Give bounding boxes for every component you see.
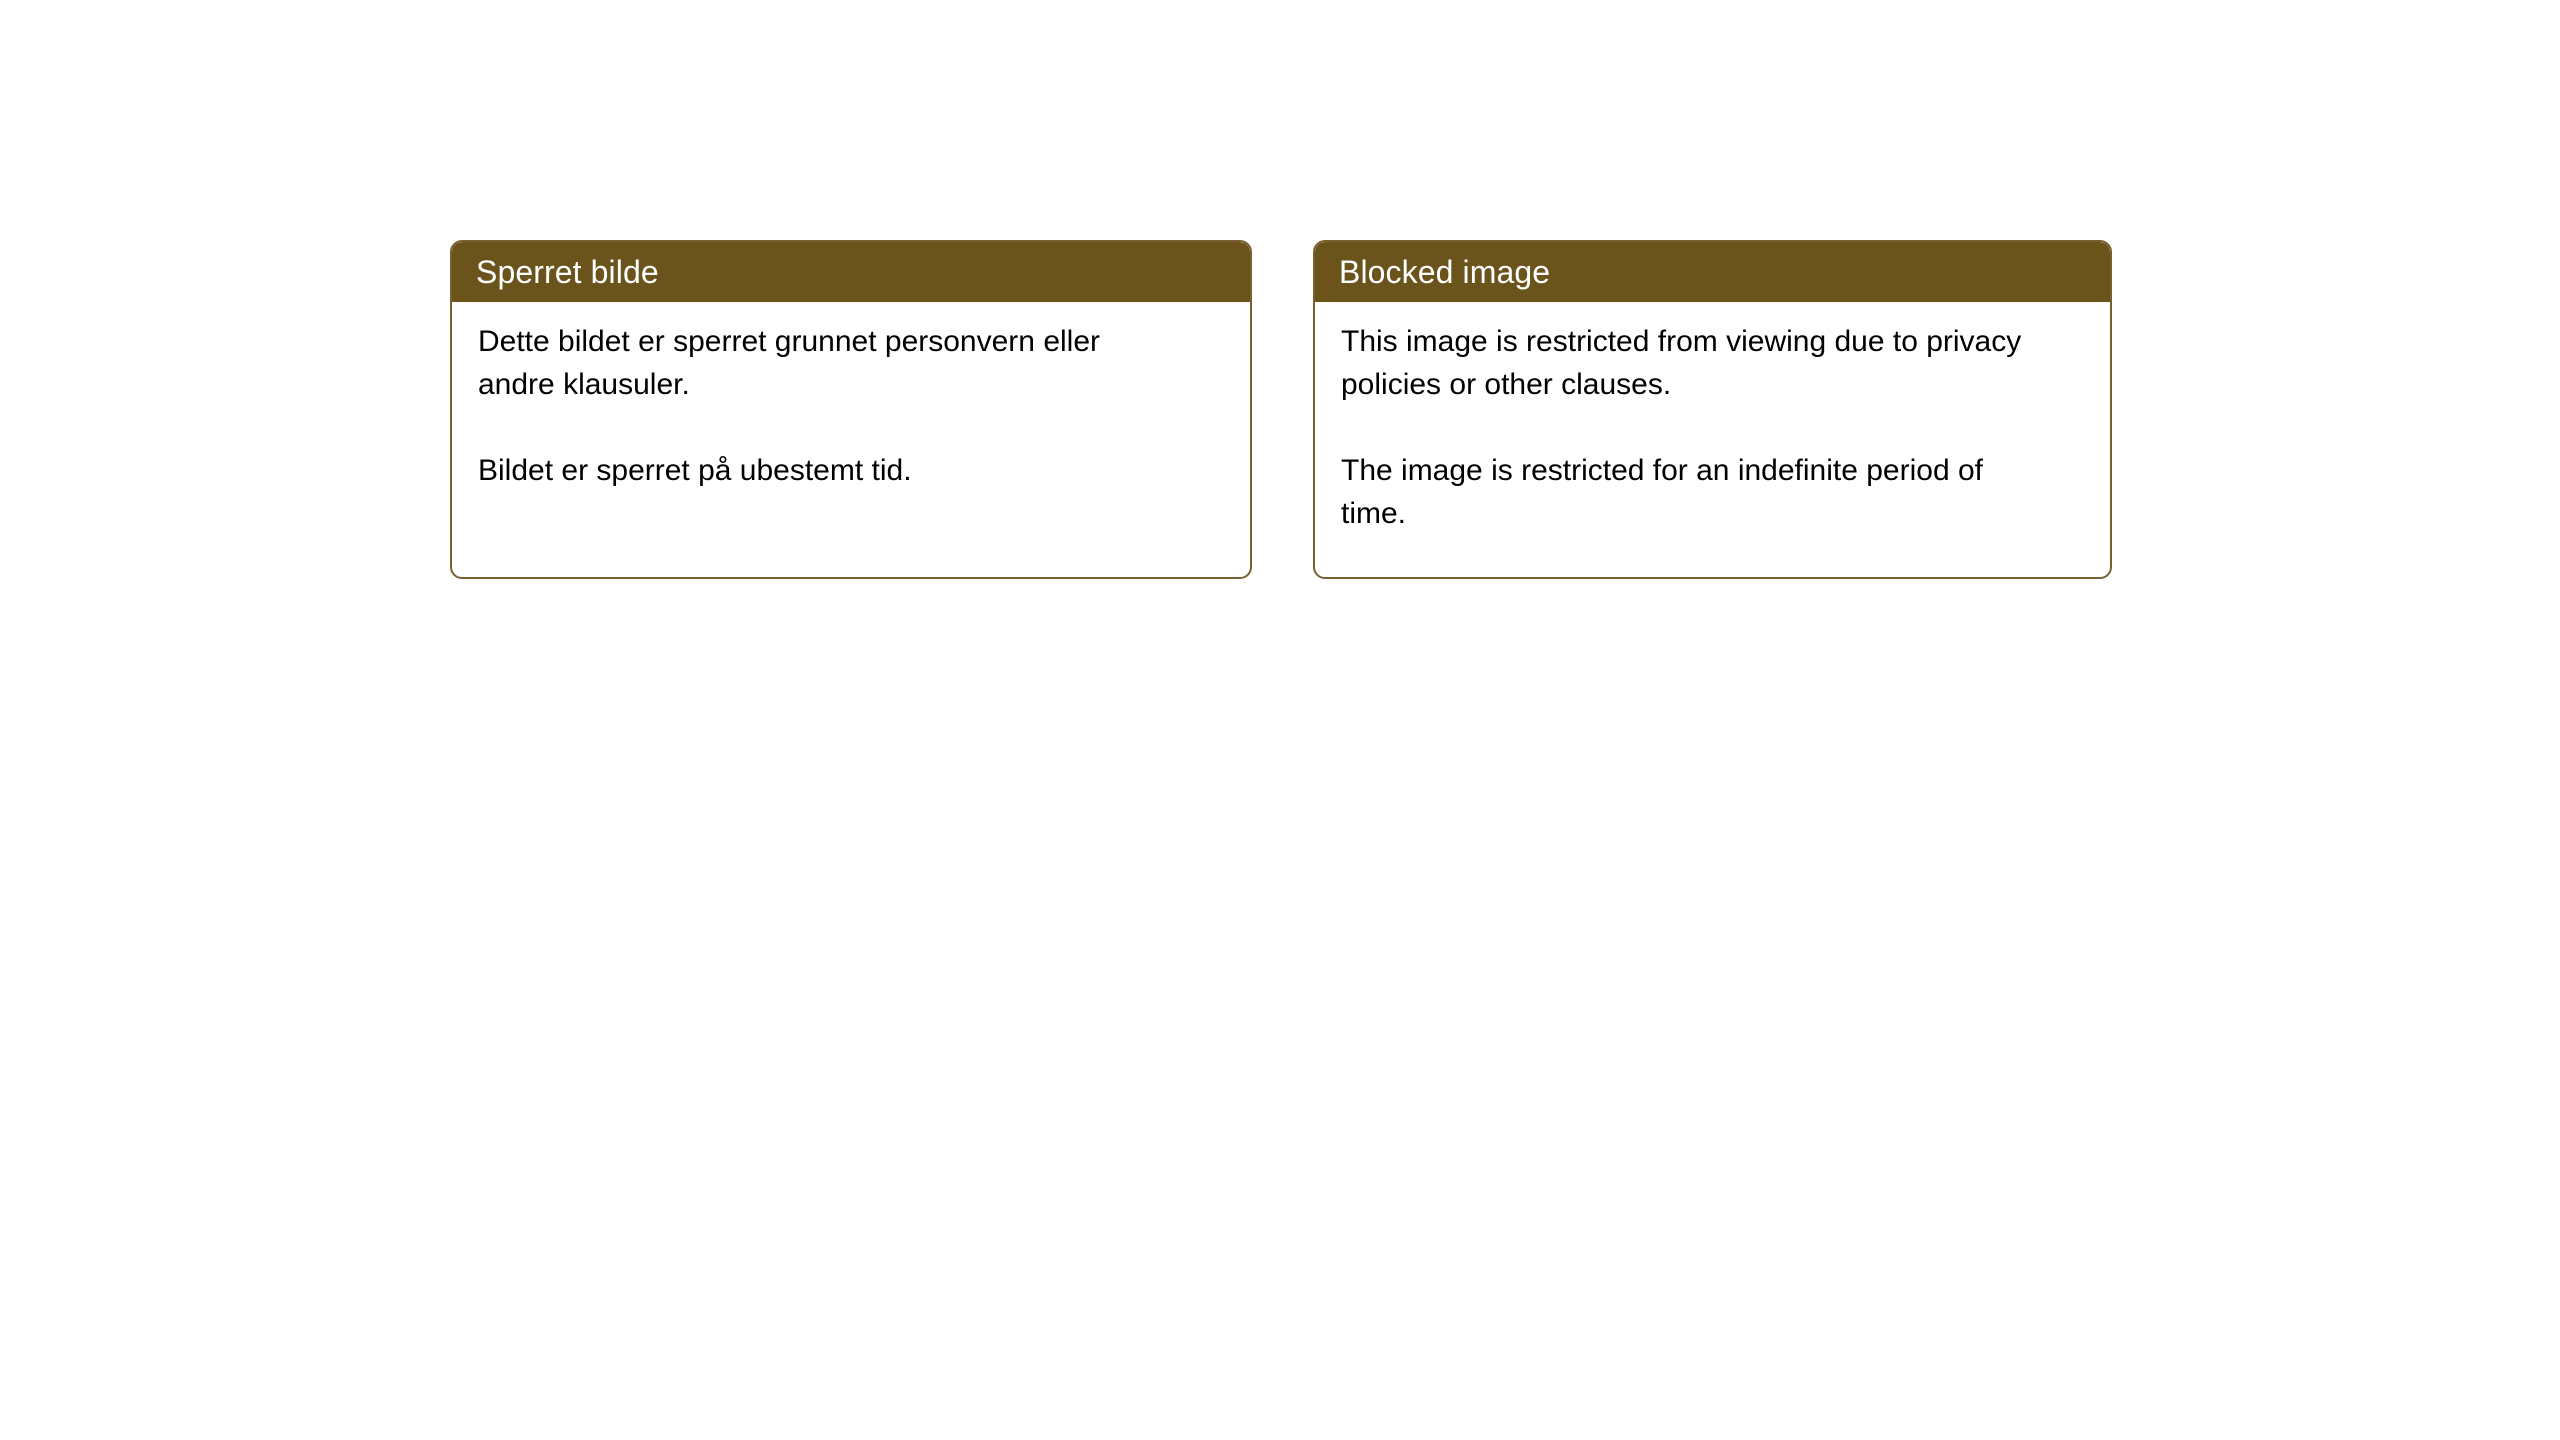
panel-header-english: Blocked image [1315,242,2110,302]
panel-paragraph-norwegian-1: Dette bildet er sperret grunnet personve… [478,320,1178,406]
paragraph-spacer-english [1341,406,2084,449]
page-canvas: Sperret bilde Dette bildet er sperret gr… [0,0,2560,1440]
blocked-image-notice-norwegian: Sperret bilde Dette bildet er sperret gr… [450,240,1252,579]
panel-paragraph-english-2: The image is restricted for an indefinit… [1341,449,2041,535]
panel-body-english: This image is restricted from viewing du… [1315,302,2110,535]
paragraph-spacer-norwegian [478,406,1224,449]
panel-header-norwegian: Sperret bilde [452,242,1250,302]
panel-body-norwegian: Dette bildet er sperret grunnet personve… [452,302,1250,492]
panel-paragraph-norwegian-2: Bildet er sperret på ubestemt tid. [478,449,1178,492]
panel-paragraph-english-1: This image is restricted from viewing du… [1341,320,2041,406]
blocked-image-notice-english: Blocked image This image is restricted f… [1313,240,2112,579]
panel-title-norwegian: Sperret bilde [476,254,659,290]
panel-title-english: Blocked image [1339,254,1550,290]
